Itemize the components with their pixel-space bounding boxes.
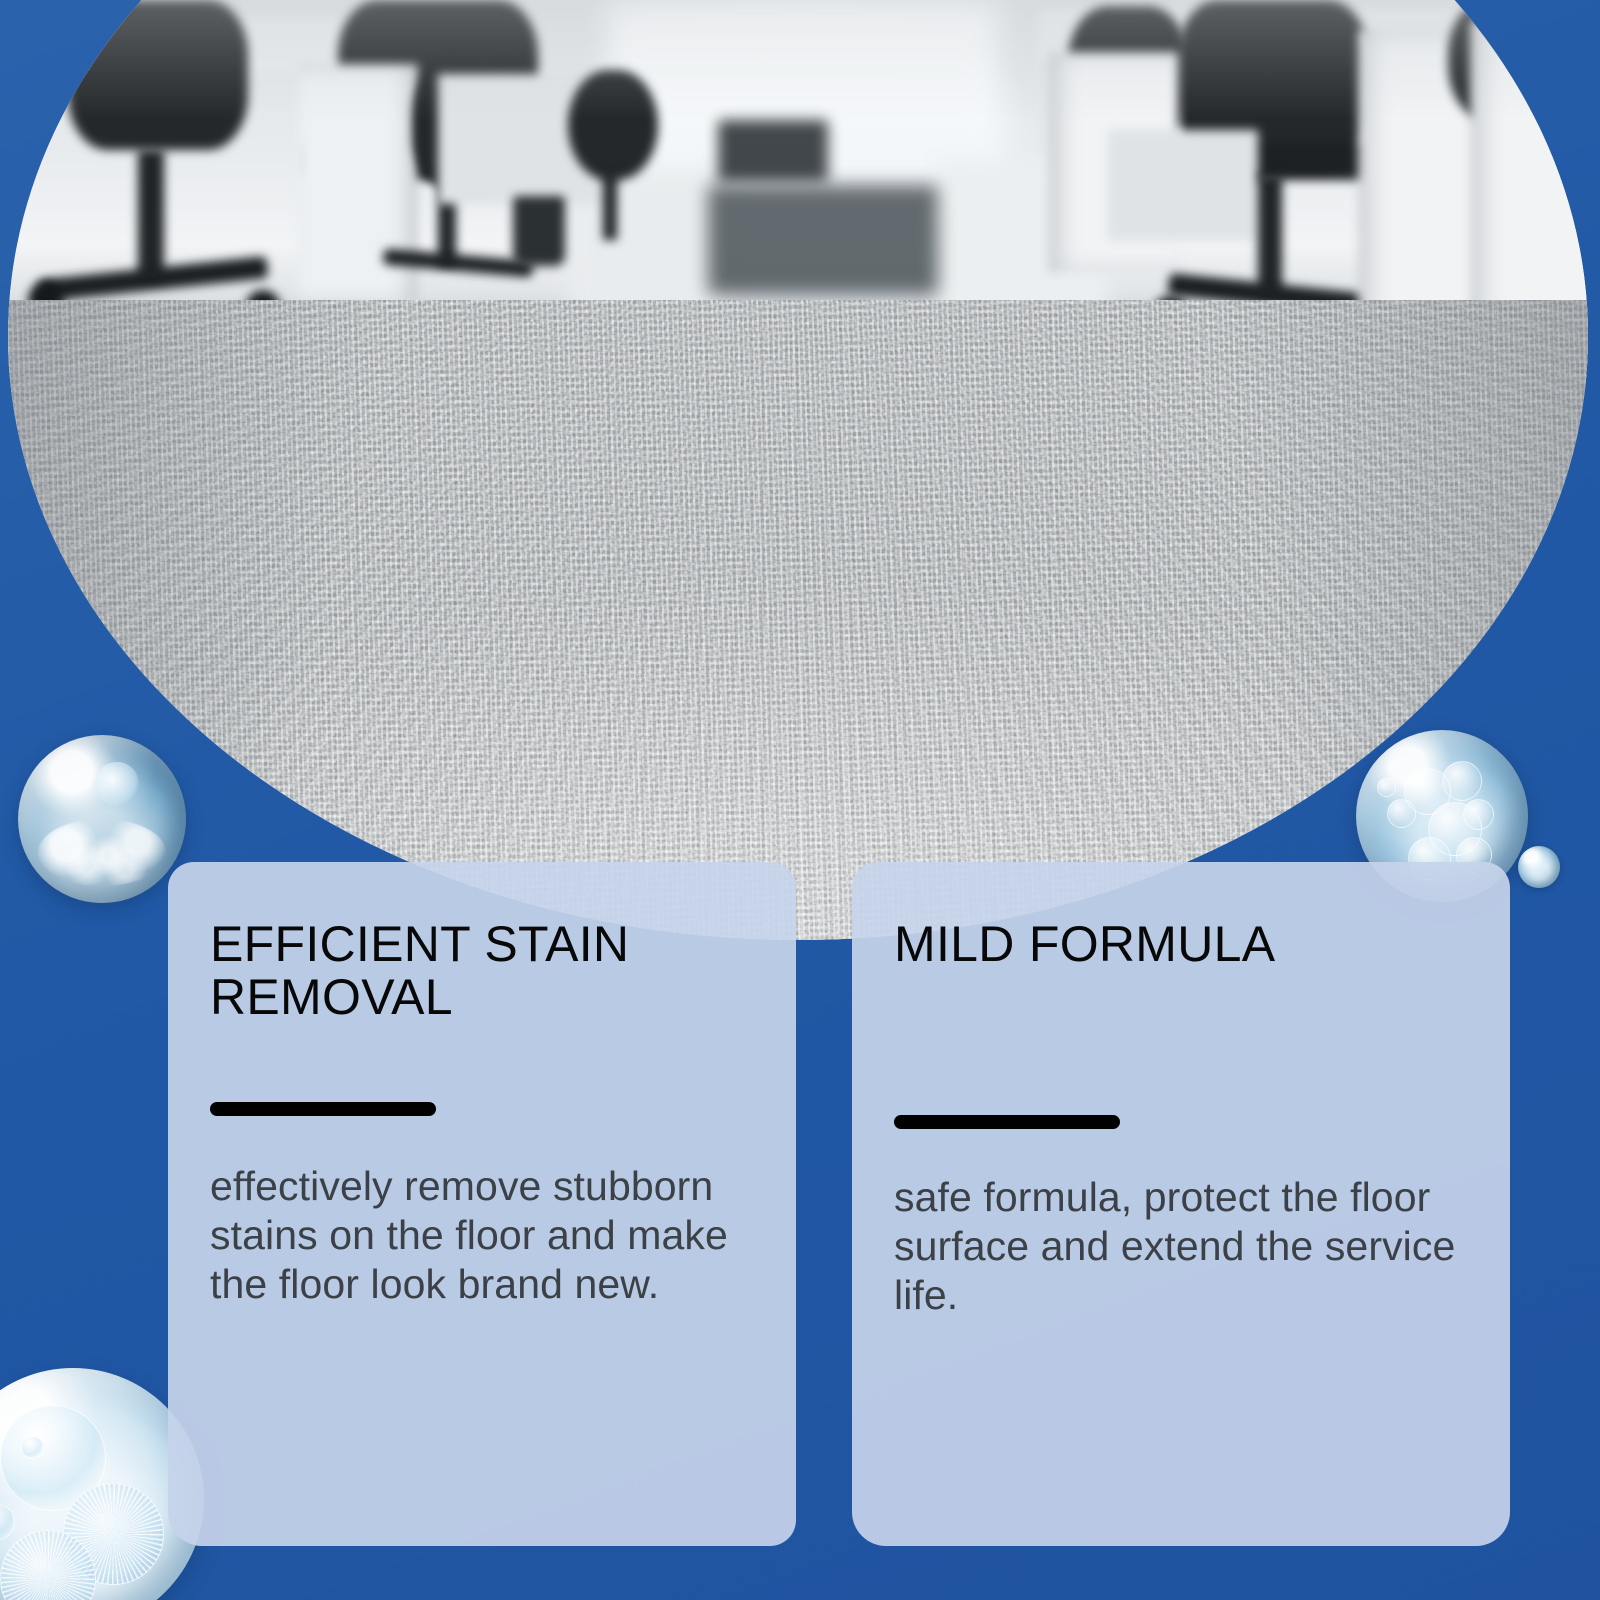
inner-bubble — [1442, 761, 1482, 801]
title-divider-rule — [894, 1115, 1120, 1129]
far-desk — [708, 185, 938, 295]
small-bubble-icon — [1518, 846, 1560, 888]
inner-bubble — [0, 1504, 15, 1540]
card-body-text: effectively remove stubborn stains on th… — [210, 1162, 750, 1308]
card-content: EFFICIENT STAIN REMOVAL effectively remo… — [168, 862, 796, 1546]
card-body-text: safe formula, protect the floor surface … — [894, 1173, 1464, 1319]
water-splash-highlight — [95, 762, 139, 806]
water-bubble-icon — [18, 735, 186, 903]
inner-bubble — [1463, 799, 1494, 830]
product-feature-banner: EFFICIENT STAIN REMOVAL effectively remo… — [0, 0, 1600, 1600]
office-photo — [8, 0, 1588, 940]
inner-bubble — [21, 1436, 44, 1459]
trash-bin — [513, 196, 565, 266]
carpet-floor — [8, 300, 1588, 940]
feature-card-efficient-stain-removal: EFFICIENT STAIN REMOVAL effectively remo… — [168, 862, 796, 1546]
feature-card-mild-formula: MILD FORMULA safe formula, protect the f… — [852, 862, 1510, 1546]
photo-top-fade — [8, 0, 1588, 120]
far-monitor — [718, 120, 828, 182]
chair-right-post — [1258, 175, 1282, 295]
chair-left-post-3 — [603, 170, 617, 240]
chair-left-post — [138, 150, 164, 280]
hero-photo-circle — [8, 0, 1588, 940]
inner-bubble — [1387, 799, 1417, 829]
card-content: MILD FORMULA safe formula, protect the f… — [852, 862, 1510, 1546]
card-title: EFFICIENT STAIN REMOVAL — [210, 918, 750, 1024]
inner-bubble — [1377, 778, 1396, 797]
desk-panel-right — [1108, 130, 1258, 240]
card-title: MILD FORMULA — [894, 918, 1464, 971]
title-divider-rule — [210, 1102, 436, 1116]
